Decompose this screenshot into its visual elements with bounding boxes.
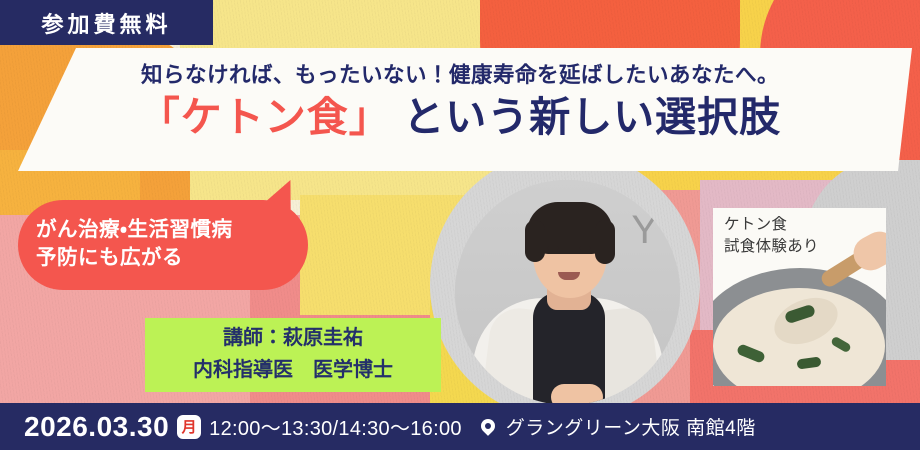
- event-info-bar: 2026.03.30 月 12:00〜13:30/14:30〜16:00 グラン…: [0, 403, 920, 450]
- headline-subtitle: 知らなければ、もったいない！健康寿命を延ばしたいあなたへ。: [0, 58, 920, 89]
- food-card-label: ケトン食 試食体験あり: [724, 214, 874, 258]
- speaker-hands: [551, 384, 603, 405]
- lecturer-line-1: 講師：萩原圭祐: [145, 322, 441, 354]
- lecturer-line-2: 内科指導医 医学博士: [145, 354, 441, 386]
- speaker-hair-right: [595, 220, 615, 264]
- speech-bubble-line-1: がん治療・生活習慣病: [36, 216, 316, 244]
- speaker-eye-left: [547, 246, 559, 250]
- speaker-photo: Y: [455, 180, 680, 405]
- event-venue: グラングリーン大阪 南館4階: [506, 413, 756, 440]
- headline-keyword: 「ケトン食」: [139, 94, 391, 140]
- food-card-line-2: 試食体験あり: [724, 236, 874, 258]
- location-pin-icon: [480, 419, 496, 435]
- food-card-line-1: ケトン食: [724, 214, 874, 236]
- free-admission-badge: 参加費無料: [0, 0, 213, 45]
- event-day-chip: 月: [177, 415, 201, 439]
- headline-rest: という新しい選択肢: [391, 94, 781, 140]
- event-date: 2026.03.30: [24, 411, 169, 443]
- speaker-eye-right: [579, 246, 591, 250]
- speech-bubble-line-2: 予防にも広がる: [36, 244, 316, 272]
- seminar-banner: 参加費無料 知らなければ、もったいない！健康寿命を延ばしたいあなたへ。 「ケトン…: [0, 0, 920, 450]
- speaker-hair-left: [525, 220, 545, 262]
- headline-main: 「ケトン食」 という新しい選択肢: [0, 94, 920, 141]
- lecturer-name-text: 講師：萩原圭祐 内科指導医 医学博士: [145, 322, 441, 386]
- speaker-photo-wall-text: Y: [631, 208, 658, 253]
- event-time: 12:00〜13:30/14:30〜16:00: [209, 412, 462, 441]
- speech-bubble-text: がん治療・生活習慣病 予防にも広がる: [36, 216, 316, 273]
